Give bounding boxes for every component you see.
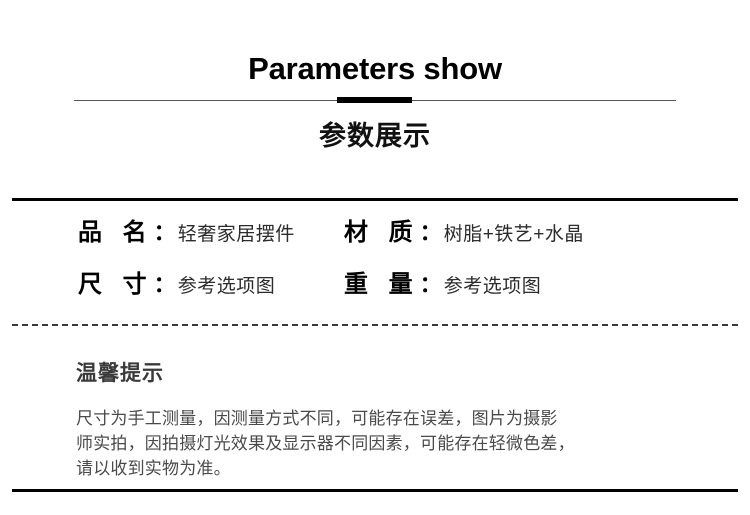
tips-body: 尺寸为手工测量，因测量方式不同，可能存在误差，图片为摄影 师实拍，因拍摄灯光效果… (76, 406, 676, 481)
tips-heading: 温馨提示 (76, 361, 164, 387)
param-item-material: 材 质 ： 树脂+铁艺+水晶 (344, 212, 584, 247)
params-top-border (12, 198, 738, 201)
title-divider (74, 95, 676, 107)
table-row: 尺 寸 ： 参考选项图 重 量 ： 参考选项图 (12, 264, 738, 316)
param-colon: ： (420, 267, 442, 299)
parameters-show-panel: Parameters show 参数展示 品 名 ： 轻奢家居摆件 材 质 ： … (0, 0, 750, 515)
tips-line: 师实拍，因拍摄灯光效果及显示器不同因素，可能存在轻微色差， (76, 431, 676, 456)
param-colon: ： (154, 215, 176, 247)
param-colon: ： (154, 267, 176, 299)
section-dashed-divider (12, 324, 738, 326)
param-item-product-name: 品 名 ： 轻奢家居摆件 (12, 212, 344, 247)
param-label: 品 名 (78, 212, 154, 247)
param-item-weight: 重 量 ： 参考选项图 (344, 264, 541, 299)
tips-line: 尺寸为手工测量，因测量方式不同，可能存在误差，图片为摄影 (76, 406, 676, 431)
param-value: 参考选项图 (444, 271, 542, 298)
tips-line: 请以收到实物为准。 (76, 456, 676, 481)
params-bottom-border (12, 489, 738, 492)
param-label: 材 质 (344, 212, 420, 247)
table-row: 品 名 ： 轻奢家居摆件 材 质 ： 树脂+铁艺+水晶 (12, 212, 738, 264)
parameters-table: 品 名 ： 轻奢家居摆件 材 质 ： 树脂+铁艺+水晶 尺 寸 ： 参考选项图 … (12, 212, 738, 316)
page-title-english: Parameters show (0, 50, 750, 88)
param-label: 重 量 (344, 264, 420, 299)
page-title-chinese: 参数展示 (0, 119, 750, 153)
param-value: 树脂+铁艺+水晶 (444, 219, 584, 246)
param-label: 尺 寸 (78, 264, 154, 299)
param-colon: ： (420, 215, 442, 247)
param-item-size: 尺 寸 ： 参考选项图 (12, 264, 344, 299)
param-value: 参考选项图 (178, 271, 276, 298)
title-divider-accent-bar (337, 97, 412, 103)
param-value: 轻奢家居摆件 (178, 219, 295, 246)
